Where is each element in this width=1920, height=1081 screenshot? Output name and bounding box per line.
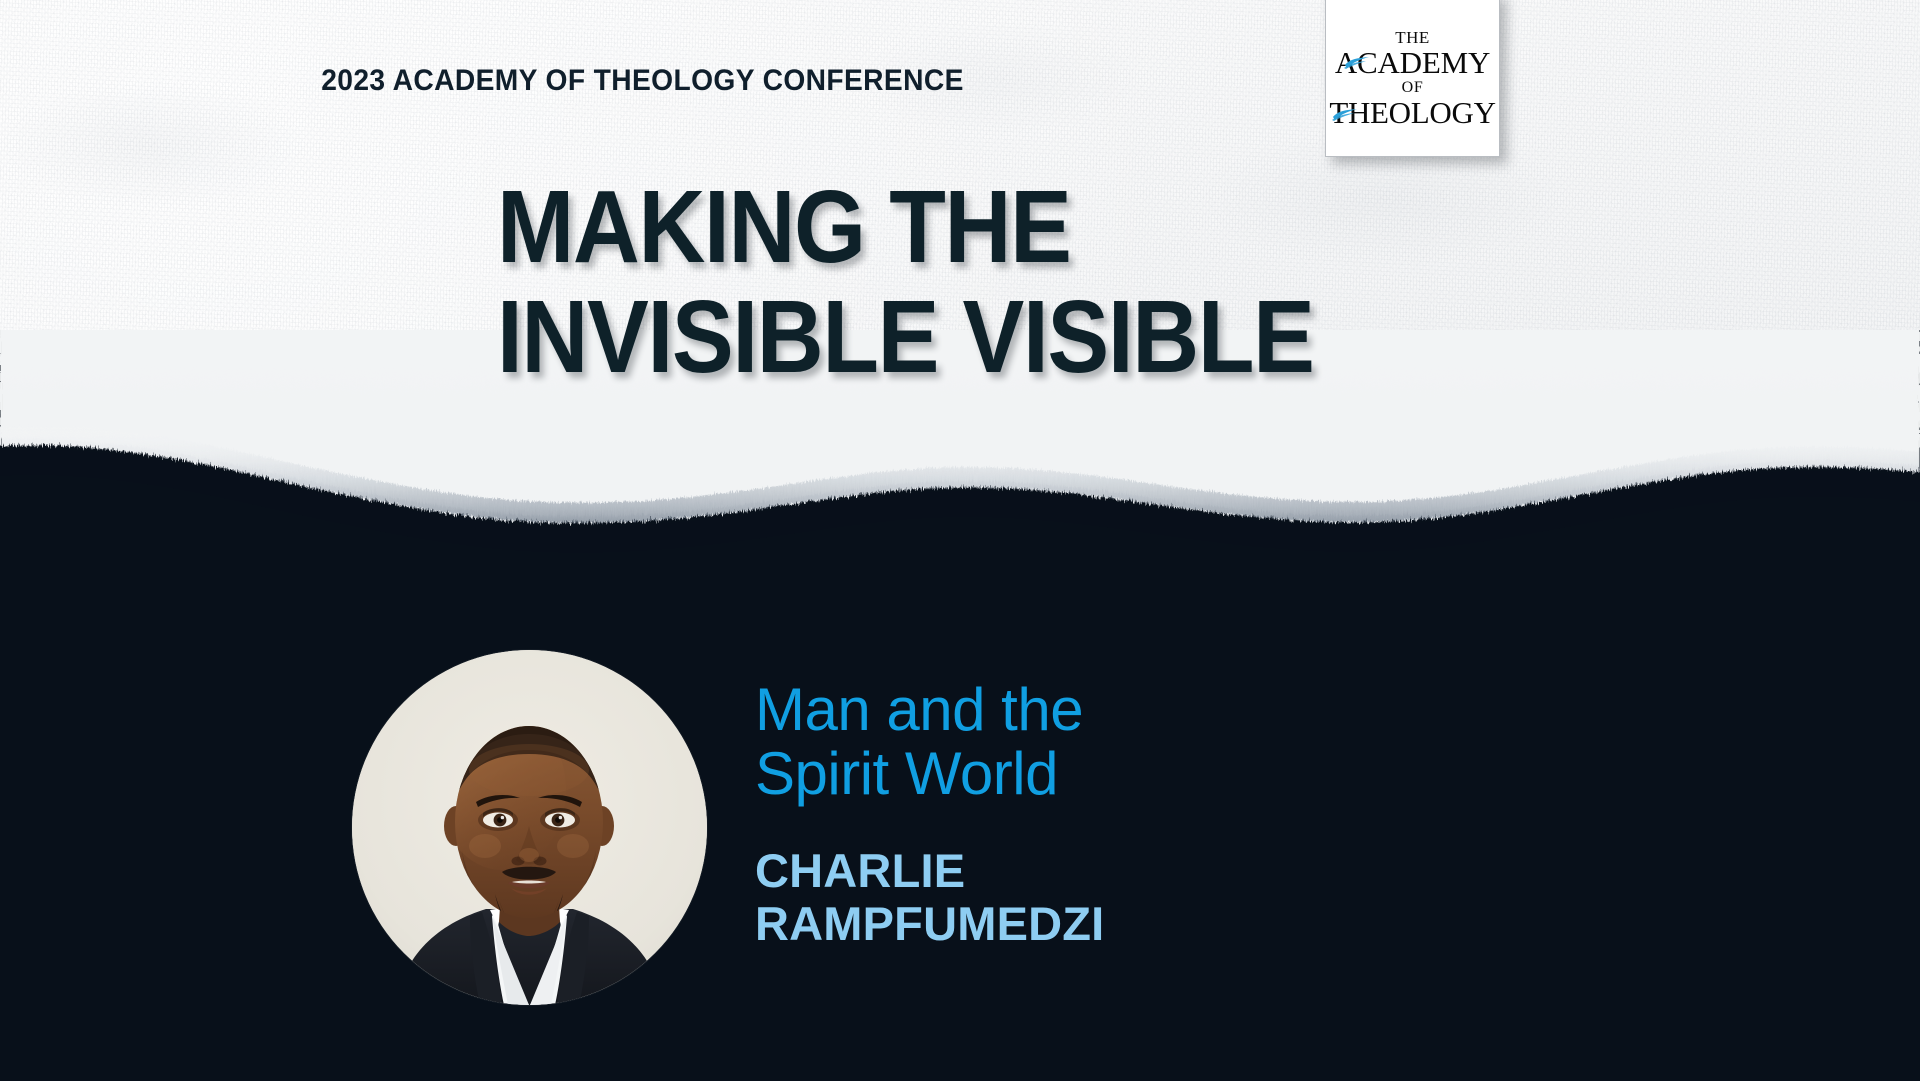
logo-wordmark: THE ACADEMY OF THEOLOGY	[1326, 29, 1499, 128]
speaker-name: CHARLIE RAMPFUMEDZI	[755, 845, 1375, 950]
logo-academy-text: ACADEMY	[1335, 45, 1490, 80]
logo-line-of: OF	[1326, 80, 1499, 96]
conference-promo-poster: 2023 ACADEMY OF THEOLOGY CONFERENCE THE …	[0, 0, 1920, 1081]
speaker-portrait-avatar	[352, 650, 707, 1005]
portrait-photo	[352, 650, 707, 1005]
conference-kicker-heading: 2023 ACADEMY OF THEOLOGY CONFERENCE	[39, 64, 1247, 98]
logo-line-academy: ACADEMY	[1326, 47, 1499, 78]
page-title: MAKING THE INVISIBLE VISIBLE	[497, 172, 1397, 392]
talk-title: Man and the Spirit World	[755, 678, 1375, 806]
logo-line-the: THE	[1326, 29, 1499, 46]
logo-theology-text: THEOLOGY	[1329, 95, 1495, 130]
logo-line-theology: THEOLOGY	[1326, 97, 1499, 128]
academy-of-theology-logo: THE ACADEMY OF THEOLOGY	[1325, 0, 1500, 157]
